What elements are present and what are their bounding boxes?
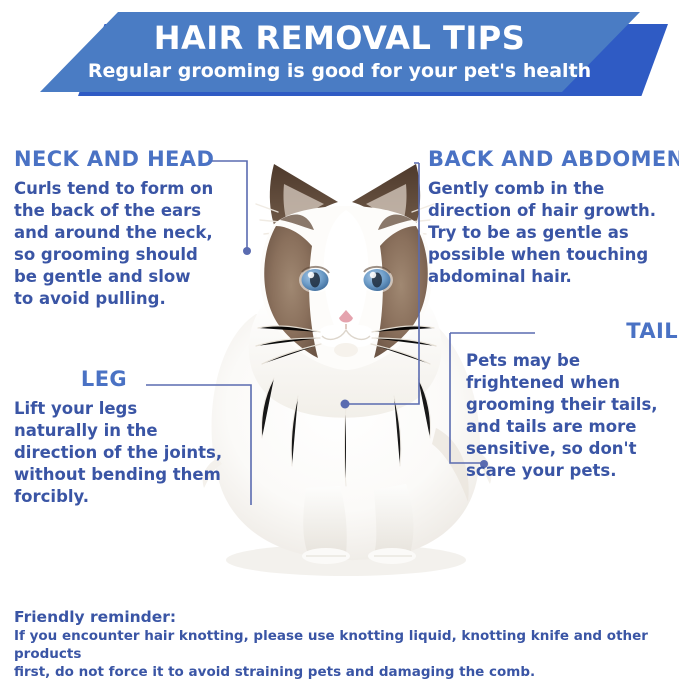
page-title: HAIR REMOVAL TIPS [0, 19, 679, 57]
callout-body-tail: Pets may be frightened when grooming the… [466, 350, 678, 482]
callout-back-and-abdomen: BACK AND ABDOMEN Gently comb in the dire… [428, 148, 678, 288]
callout-body-back-and-abdomen: Gently comb in the direction of hair gro… [428, 178, 678, 288]
callout-tail: TAIL Pets may be frightened when groomin… [466, 320, 678, 482]
friendly-reminder-line-2: first, do not force it to avoid strainin… [14, 664, 664, 682]
callout-leg: LEG Lift your legs naturally in the dire… [14, 368, 226, 508]
header-banner: HAIR REMOVAL TIPS Regular grooming is go… [0, 0, 679, 104]
callout-body-leg: Lift your legs naturally in the directio… [14, 398, 226, 508]
callout-heading-neck-and-head: NECK AND HEAD [14, 148, 214, 171]
callout-heading-back-and-abdomen: BACK AND ABDOMEN [428, 148, 678, 171]
callout-heading-leg: LEG [14, 368, 194, 391]
callout-heading-tail: TAIL [466, 320, 678, 343]
callout-body-neck-and-head: Curls tend to form on the back of the ea… [14, 178, 214, 310]
friendly-reminder-title: Friendly reminder: [14, 608, 664, 626]
friendly-reminder-line-1: If you encounter hair knotting, please u… [14, 628, 664, 664]
infographic-page: HAIR REMOVAL TIPS Regular grooming is go… [0, 0, 679, 679]
callout-neck-and-head: NECK AND HEAD Curls tend to form on the … [14, 148, 214, 310]
page-subtitle: Regular grooming is good for your pet's … [0, 60, 679, 82]
friendly-reminder: Friendly reminder: If you encounter hair… [14, 608, 664, 682]
